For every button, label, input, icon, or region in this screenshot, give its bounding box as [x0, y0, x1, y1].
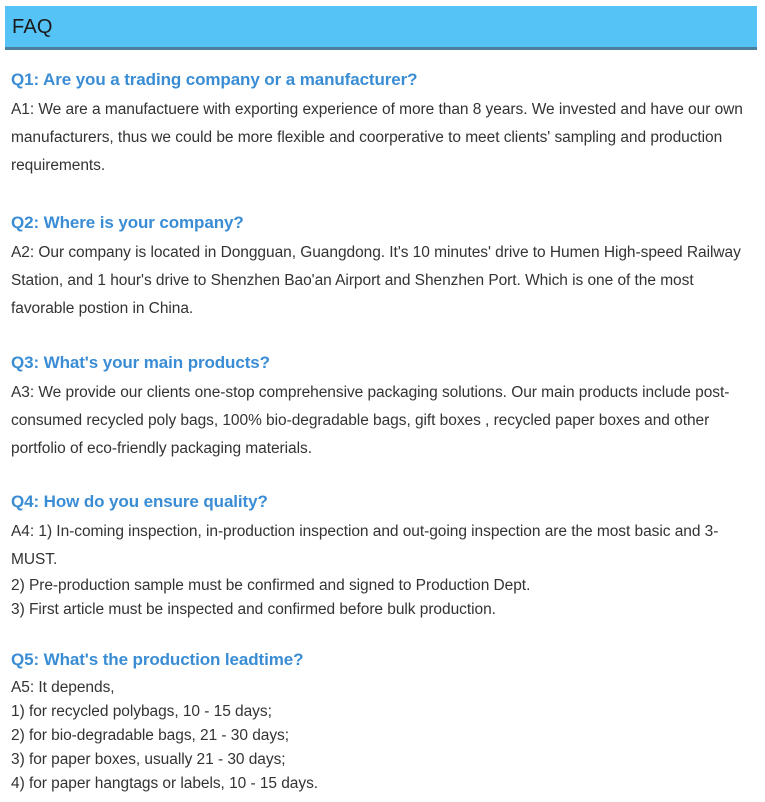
faq-answer-a4-line-2: 2) Pre-production sample must be confirm… — [11, 574, 755, 598]
faq-answer-a4-line-3: 3) First article must be inspected and c… — [11, 598, 755, 622]
faq-answer-a2: A2: Our company is located in Dongguan, … — [11, 239, 755, 323]
faq-question-q2: Q2: Where is your company? — [11, 211, 755, 235]
faq-section-gap — [11, 469, 755, 490]
faq-item-q2: Q2: Where is your company? A2: Our compa… — [11, 211, 755, 323]
faq-answer-a5-line-1: A5: It depends, — [11, 676, 755, 700]
faq-section-gap — [11, 186, 755, 211]
faq-question-q3: Q3: What's your main products? — [11, 351, 755, 375]
faq-answer-a3: A3: We provide our clients one-stop comp… — [11, 379, 755, 463]
faq-section-gap — [11, 628, 755, 648]
faq-item-q3: Q3: What's your main products? A3: We pr… — [11, 351, 755, 463]
faq-answer-a4-line-1: A4: 1) In-coming inspection, in-producti… — [11, 518, 755, 574]
faq-question-q4: Q4: How do you ensure quality? — [11, 490, 755, 514]
faq-section-gap — [11, 329, 755, 351]
faq-question-q1: Q1: Are you a trading company or a manuf… — [11, 68, 755, 92]
faq-item-q4: Q4: How do you ensure quality? A4: 1) In… — [11, 490, 755, 622]
faq-question-q5: Q5: What's the production leadtime? — [11, 648, 755, 672]
faq-item-q5: Q5: What's the production leadtime? A5: … — [11, 648, 755, 796]
faq-answer-a5-line-3: 2) for bio-degradable bags, 21 - 30 days… — [11, 724, 755, 748]
faq-content: Q1: Are you a trading company or a manuf… — [11, 68, 755, 802]
faq-banner-title: FAQ — [12, 15, 53, 39]
faq-answer-a5-line-5: 4) for paper hangtags or labels, 10 - 15… — [11, 772, 755, 796]
faq-page: FAQ Q1: Are you a trading company or a m… — [0, 0, 765, 748]
faq-answer-a5-line-2: 1) for recycled polybags, 10 - 15 days; — [11, 700, 755, 724]
faq-item-q1: Q1: Are you a trading company or a manuf… — [11, 68, 755, 180]
faq-answer-a5-line-4: 3) for paper boxes, usually 21 - 30 days… — [11, 748, 755, 772]
faq-banner: FAQ — [5, 6, 757, 50]
faq-answer-a1: A1: We are a manufactuere with exporting… — [11, 96, 755, 180]
